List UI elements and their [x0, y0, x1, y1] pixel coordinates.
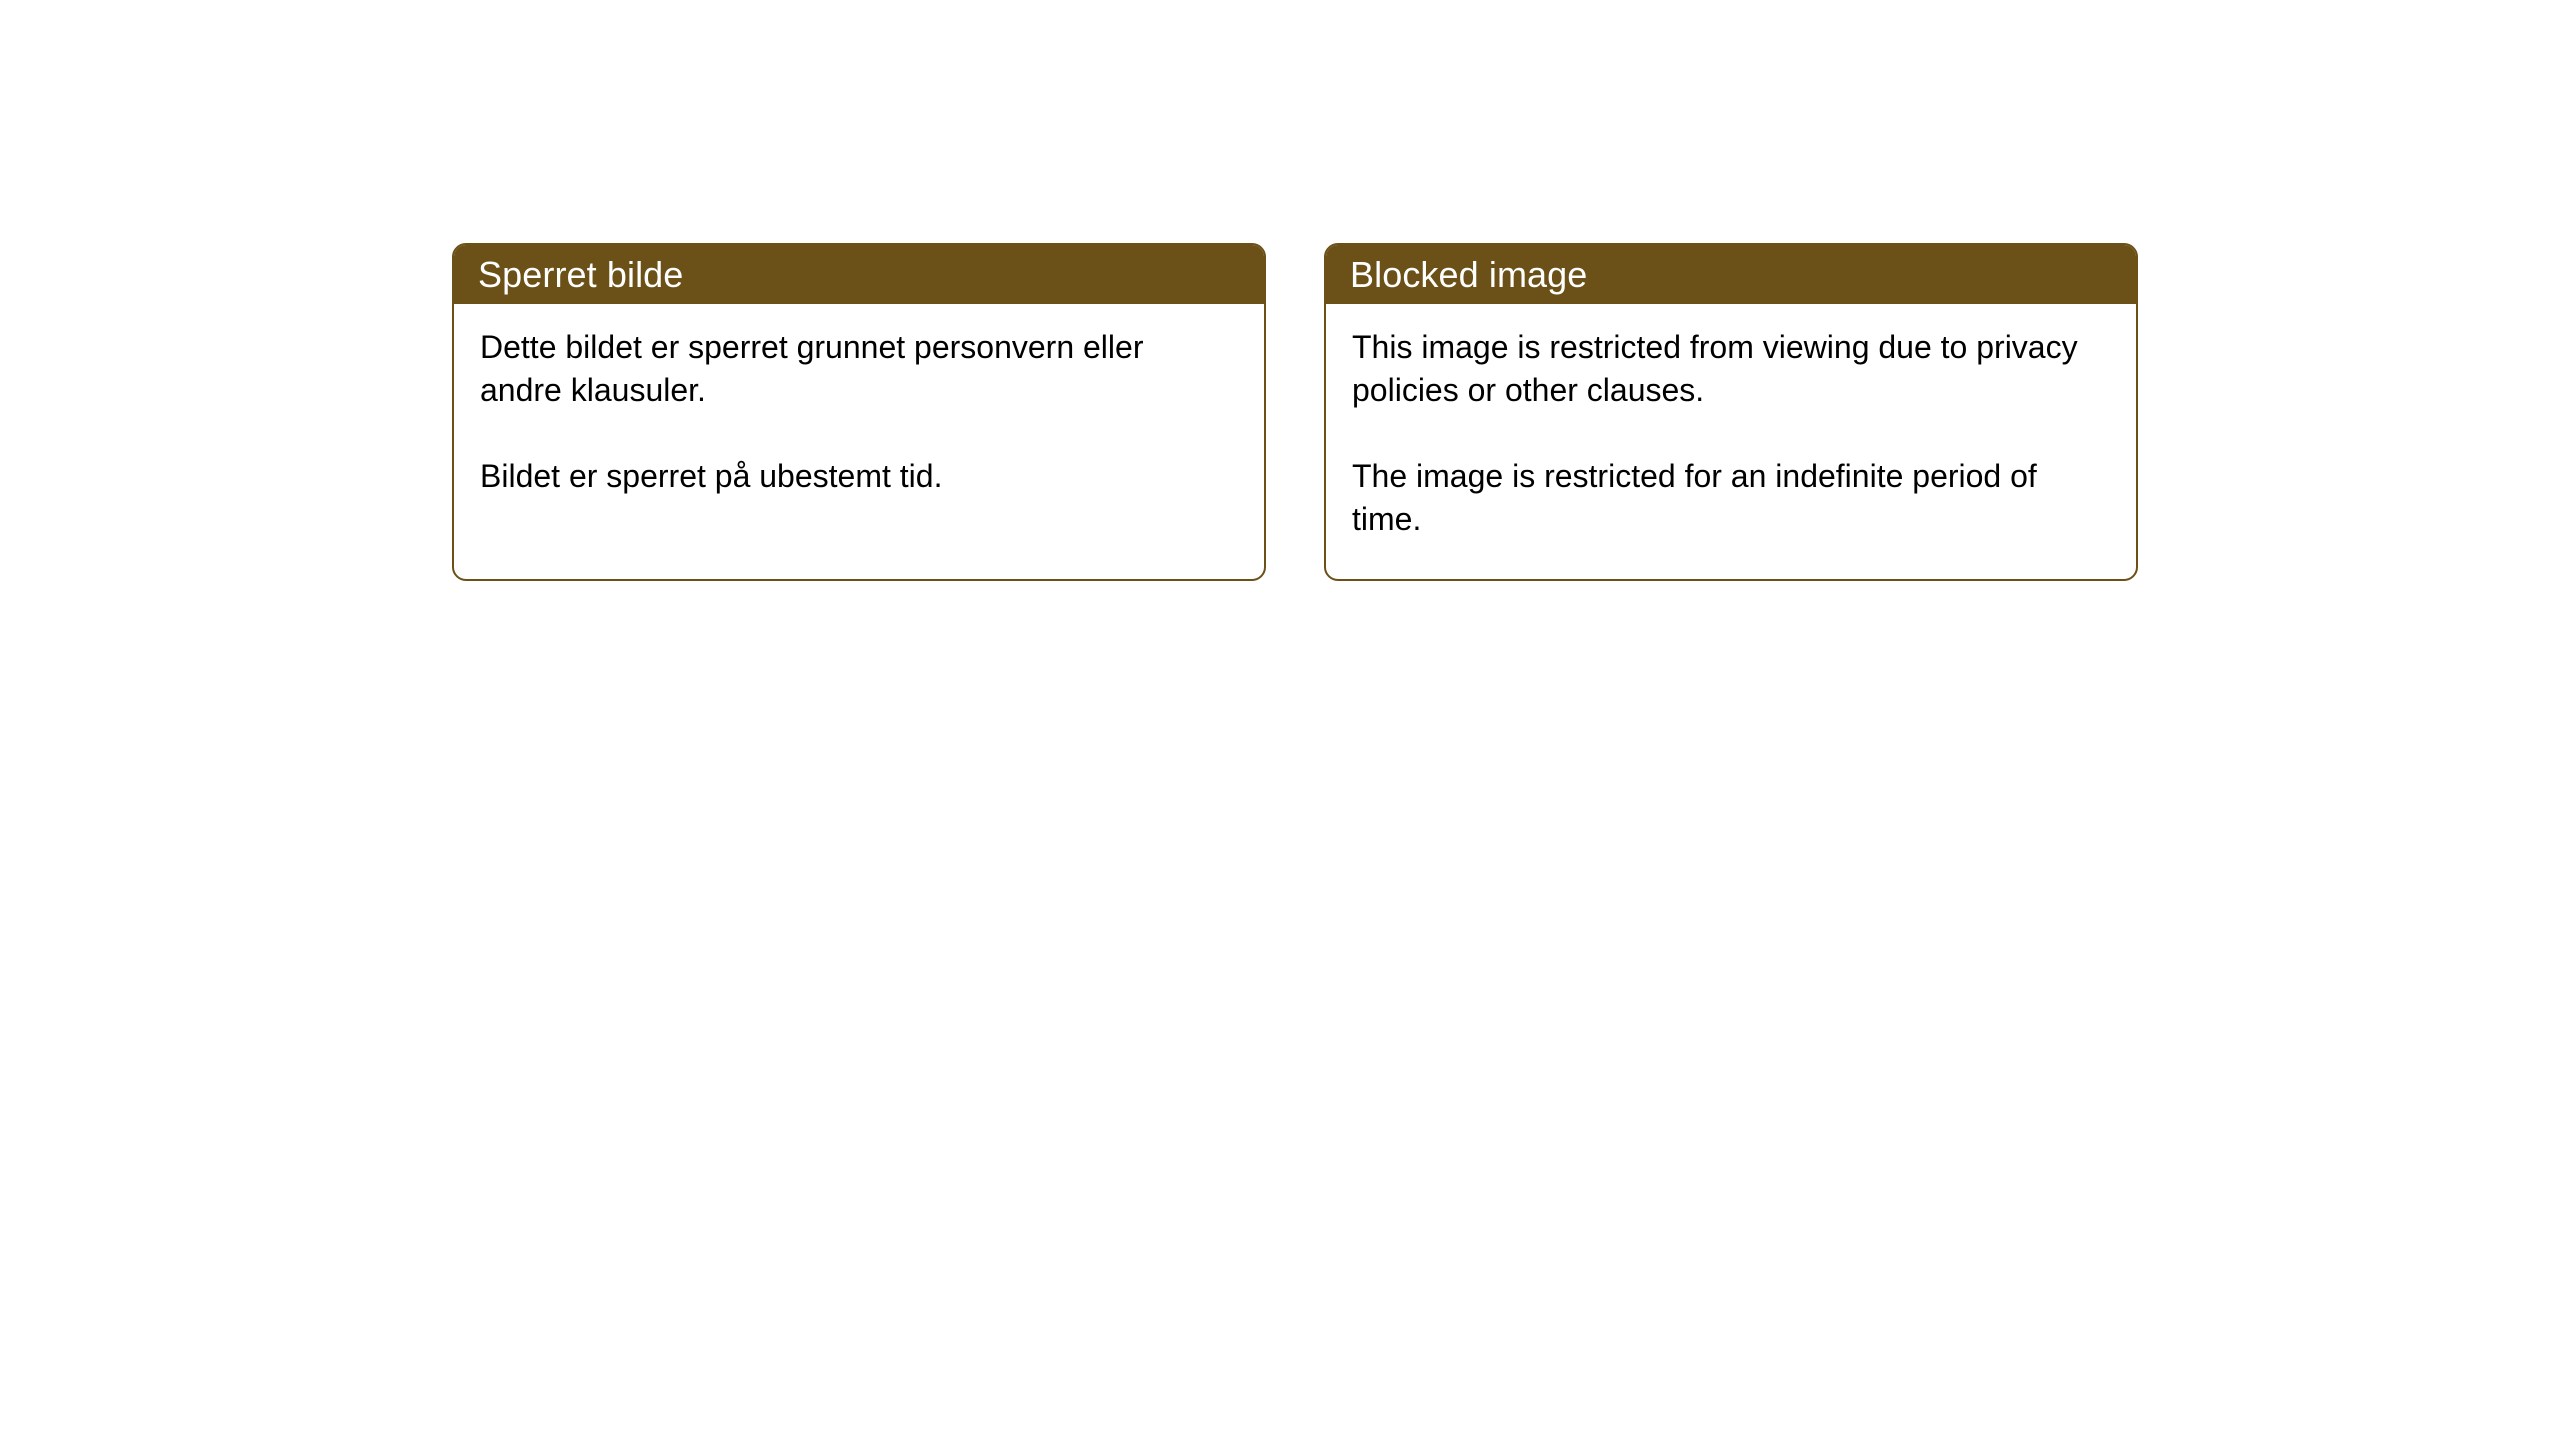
card-header-english: Blocked image: [1326, 245, 2136, 304]
card-paragraph-reason-norwegian: Dette bildet er sperret grunnet personve…: [480, 326, 1200, 411]
card-body-english: This image is restricted from viewing du…: [1326, 304, 2136, 579]
card-paragraph-duration-english: The image is restricted for an indefinit…: [1352, 455, 2110, 540]
card-paragraph-duration-norwegian: Bildet er sperret på ubestemt tid.: [480, 455, 1200, 498]
card-paragraph-reason-english: This image is restricted from viewing du…: [1352, 326, 2110, 411]
card-header-norwegian: Sperret bilde: [454, 245, 1264, 304]
card-title-norwegian: Sperret bilde: [478, 257, 683, 293]
card-title-english: Blocked image: [1350, 257, 1587, 293]
card-body-norwegian: Dette bildet er sperret grunnet personve…: [454, 304, 1264, 579]
blocked-image-card-english: Blocked image This image is restricted f…: [1324, 243, 2138, 581]
blocked-image-notice-row: Sperret bilde Dette bildet er sperret gr…: [452, 243, 2138, 581]
page-canvas: Sperret bilde Dette bildet er sperret gr…: [0, 0, 2560, 1440]
blocked-image-card-norwegian: Sperret bilde Dette bildet er sperret gr…: [452, 243, 1266, 581]
